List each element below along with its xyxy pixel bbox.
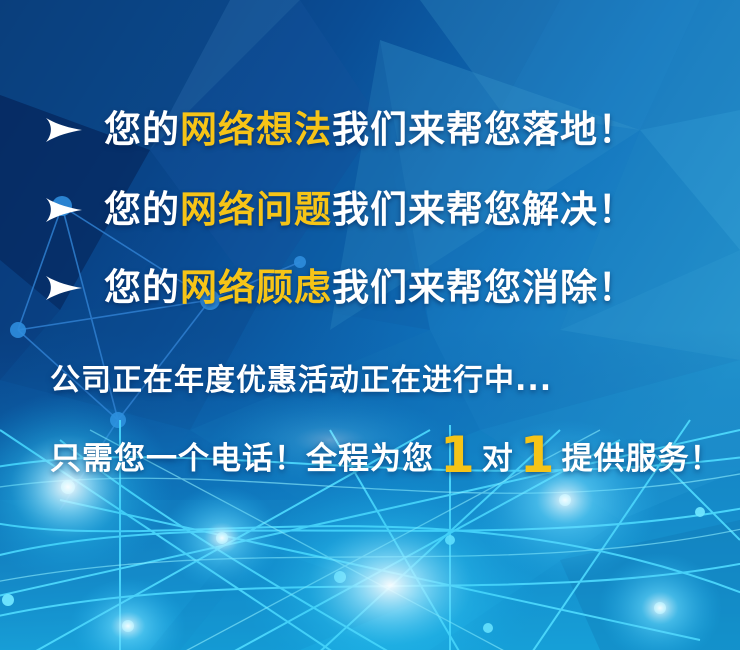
headline-text-2: 您的网络问题我们来帮您解决！ [104,184,636,236]
headline-1-prefix: 您的 [104,108,180,151]
promo-banner: 您的网络想法我们来帮您落地！ 您的网络问题我们来帮您解决！ 您的网络顾虑我们来帮… [0,0,740,650]
promo-subtext-line-2: 只需您一个电话！全程为您 1 对 1 提供服务！ [50,425,722,486]
headline-2-prefix: 您的 [104,188,180,231]
headline-3-suffix: 我们来帮您消除！ [332,266,636,309]
subtext-2-part1: 只需您一个电话！全程为您 [50,432,434,486]
arrow-bullet-icon [44,116,84,144]
headline-1-suffix: 我们来帮您落地！ [332,108,636,151]
promo-subtext-line-1: 公司正在年度优惠活动正在进行中... [50,360,552,402]
headline-1-highlight: 网络想法 [180,108,332,151]
arrow-bullet-icon [44,196,84,224]
subtext-2-middle: 对 [482,432,514,486]
headline-2-highlight: 网络问题 [180,188,332,231]
subtext-2-number-2: 1 [514,428,562,482]
headline-2-suffix: 我们来帮您解决！ [332,188,636,231]
headline-3-highlight: 网络顾虑 [180,266,332,309]
subtext-2-part2: 提供服务！ [562,432,722,486]
headline-text-1: 您的网络想法我们来帮您落地！ [104,104,636,156]
headline-text-3: 您的网络顾虑我们来帮您消除！ [104,262,636,314]
banner-content: 您的网络想法我们来帮您落地！ 您的网络问题我们来帮您解决！ 您的网络顾虑我们来帮… [0,0,740,650]
headline-row-3: 您的网络顾虑我们来帮您消除！ [44,262,636,314]
headline-3-prefix: 您的 [104,266,180,309]
arrow-bullet-icon [44,274,84,302]
headline-row-1: 您的网络想法我们来帮您落地！ [44,104,636,156]
headline-row-2: 您的网络问题我们来帮您解决！ [44,184,636,236]
subtext-2-number-1: 1 [434,428,482,482]
